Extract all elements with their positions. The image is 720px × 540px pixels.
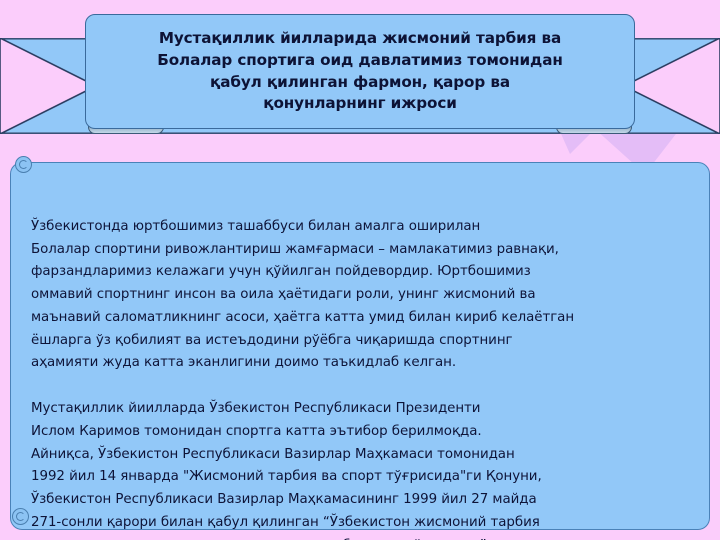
scroll-curl-top-left-icon	[15, 156, 32, 173]
body-paragraph-1: Ўзбекистонда юртбошимиз ташаббуси билан …	[31, 216, 689, 375]
body-content-panel: Ўзбекистонда юртбошимиз ташаббуси билан …	[10, 162, 710, 530]
page-title: Мустақиллик йилларида жисмоний тарбия ва…	[147, 28, 573, 114]
title-banner: Мустақиллик йилларида жисмоний тарбия ва…	[85, 14, 635, 129]
body-text-block: Ўзбекистонда юртбошимиз ташаббуси билан …	[31, 193, 689, 540]
scroll-curl-bottom-left-icon	[12, 508, 29, 525]
slide-canvas: Мустақиллик йилларида жисмоний тарбия ва…	[0, 0, 720, 540]
body-paragraph-2: Мустақиллик йиилларда Ўзбекистон Республ…	[31, 398, 689, 540]
